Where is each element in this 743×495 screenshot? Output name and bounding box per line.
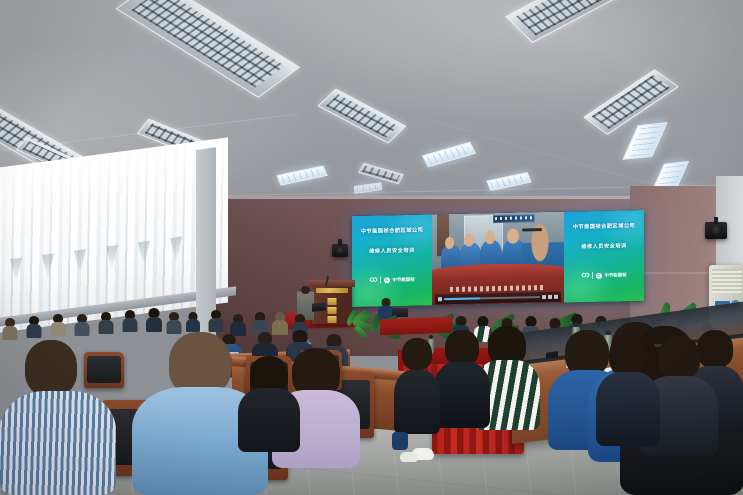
video-progress-bar[interactable] — [444, 296, 541, 300]
attendee — [186, 312, 200, 332]
logo-mark: CO — [582, 273, 589, 279]
attendee — [166, 312, 181, 334]
wall-speaker-right — [705, 222, 727, 239]
shoe — [400, 452, 418, 462]
laptop — [312, 302, 326, 311]
attendee — [208, 310, 223, 332]
slide-subtitle: 维修人员安全培训 — [581, 242, 627, 250]
slide-title: 中节能国祯合肥区域公司 — [361, 227, 424, 235]
led-panel-center-video[interactable] — [432, 212, 564, 306]
logo-badge-icon: G — [596, 272, 602, 278]
slide-logo: CO G 中节能国祯 — [370, 276, 415, 284]
slide-logo: CO G 中节能国祯 — [582, 271, 627, 279]
attendee — [394, 338, 440, 434]
play-icon[interactable] — [438, 297, 442, 301]
attendee — [50, 314, 65, 336]
led-panel-right-slide: 中节能国祯合肥区域公司 维修人员安全培训 CO G 中节能国祯 — [564, 210, 644, 303]
slide-subtitle: 维修人员安全培训 — [369, 247, 415, 255]
bag — [392, 432, 408, 450]
attendee — [98, 312, 113, 334]
volume-icon[interactable] — [542, 295, 546, 299]
video-banner — [493, 214, 535, 223]
attendee — [2, 318, 17, 340]
logo-text: 中节能国祯 — [393, 276, 415, 282]
attendee-foreground — [0, 340, 116, 495]
attendee-foreground — [434, 330, 490, 428]
lectern-nameplate — [316, 288, 348, 293]
attendee — [26, 316, 41, 338]
slide-title: 中节能国祯合肥区域公司 — [573, 222, 636, 230]
conference-room-photo: 中节能国祯合肥区域公司 维修人员安全培训 CO G 中节能国祯 — [0, 0, 743, 495]
logo-mark: CO — [370, 277, 377, 283]
settings-icon[interactable] — [548, 295, 552, 299]
logo-badge-icon: G — [384, 277, 390, 283]
fullscreen-icon[interactable] — [554, 295, 558, 299]
attendee — [596, 336, 660, 446]
attendee — [122, 310, 137, 332]
attendee — [74, 314, 89, 336]
wall-speaker-left — [332, 244, 348, 257]
attendee — [252, 312, 268, 334]
attendee-foreground — [238, 356, 300, 452]
attendee — [146, 308, 162, 332]
led-panel-left-slide: 中节能国祯合肥区域公司 维修人员安全培训 CO G 中节能国祯 — [352, 214, 432, 307]
logo-text: 中节能国祯 — [605, 272, 627, 278]
led-video-wall[interactable]: 中节能国祯合肥区域公司 维修人员安全培训 CO G 中节能国祯 — [352, 210, 644, 307]
